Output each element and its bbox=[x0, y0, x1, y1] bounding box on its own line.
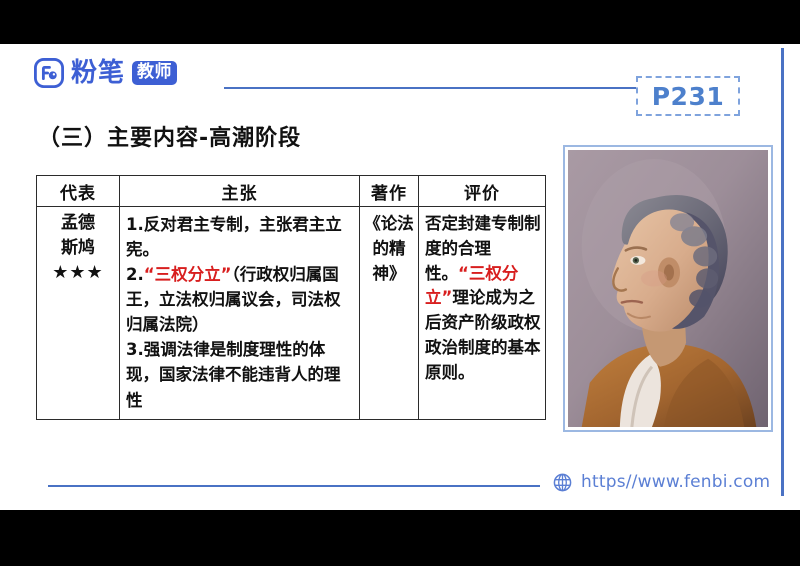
page-title: （三）主要内容-高潮阶段 bbox=[38, 120, 301, 152]
view-item-index: 2. bbox=[126, 265, 144, 284]
globe-icon bbox=[553, 473, 572, 492]
brand-name: 粉笔 bbox=[71, 58, 125, 88]
views-list: 1.反对君主专制，主张君主立宪。2.“三权分立”（行政权归属国王，立法权归属议会… bbox=[126, 212, 355, 413]
letterbox-top bbox=[0, 0, 800, 44]
cell-representative: 孟德 斯鸠 ★★★ bbox=[37, 207, 120, 420]
fb-logo-icon bbox=[34, 58, 64, 88]
column-header-works: 著作 bbox=[360, 176, 419, 207]
footer-link[interactable]: https//www.fenbi.com bbox=[553, 472, 770, 492]
view-item-index: 3. bbox=[126, 340, 144, 359]
content-table: 代表 主张 著作 评价 孟德 斯鸠 ★★★ 1.反对君主专制，主张君主立宪。2.… bbox=[36, 175, 546, 420]
cell-work: 《论法的精神》 bbox=[360, 207, 419, 420]
evaluation-text: 否定封建专制制度的合理性。“三权分立”理论成为之后资产阶级政权政治制度的基本原则… bbox=[425, 212, 541, 385]
table-row: 孟德 斯鸠 ★★★ 1.反对君主专制，主张君主立宪。2.“三权分立”（行政权归属… bbox=[37, 207, 546, 420]
rating-stars: ★★★ bbox=[39, 262, 117, 284]
frame-bottom-line bbox=[48, 485, 540, 487]
slide-screen: 粉笔 教师 P231 （三）主要内容-高潮阶段 代表 主张 著作 评价 bbox=[0, 0, 800, 566]
column-header-representative: 代表 bbox=[37, 176, 120, 207]
table-head: 代表 主张 著作 评价 bbox=[37, 176, 546, 207]
letterbox-bottom bbox=[0, 510, 800, 566]
cell-evaluation: 否定封建专制制度的合理性。“三权分立”理论成为之后资产阶级政权政治制度的基本原则… bbox=[419, 207, 546, 420]
view-item-text: 强调法律是制度理性的体现，国家法律不能违背人的理性 bbox=[126, 340, 341, 409]
slide-canvas: 粉笔 教师 P231 （三）主要内容-高潮阶段 代表 主张 著作 评价 bbox=[0, 44, 800, 510]
view-item-text: 反对君主专制，主张君主立宪。 bbox=[126, 215, 342, 259]
table-body: 孟德 斯鸠 ★★★ 1.反对君主专制，主张君主立宪。2.“三权分立”（行政权归属… bbox=[37, 207, 546, 420]
page-number-badge: P231 bbox=[636, 76, 740, 116]
brand-badge: 教师 bbox=[132, 61, 177, 85]
portrait-image bbox=[563, 145, 773, 432]
column-header-evaluation: 评价 bbox=[419, 176, 546, 207]
page-number-label: P231 bbox=[652, 82, 725, 111]
view-item: 3.强调法律是制度理性的体现，国家法律不能违背人的理性 bbox=[126, 337, 355, 412]
header-rule bbox=[224, 87, 636, 89]
view-item: 2.“三权分立”（行政权归属国王，立法权归属议会，司法权归属法院） bbox=[126, 262, 355, 337]
table-header-row: 代表 主张 著作 评价 bbox=[37, 176, 546, 207]
view-item: 1.反对君主专制，主张君主立宪。 bbox=[126, 212, 355, 262]
portrait-artwork bbox=[568, 150, 768, 427]
footer-url: https//www.fenbi.com bbox=[581, 472, 770, 492]
view-item-index: 1. bbox=[126, 215, 144, 234]
cell-views: 1.反对君主专制，主张君主立宪。2.“三权分立”（行政权归属国王，立法权归属议会… bbox=[120, 207, 360, 420]
frame-right-line bbox=[781, 48, 784, 496]
column-header-views: 主张 bbox=[120, 176, 360, 207]
representative-name-line1: 孟德 bbox=[61, 213, 95, 233]
view-item-highlight: “三权分立” bbox=[144, 265, 232, 284]
representative-name-line2: 斯鸠 bbox=[61, 238, 95, 258]
